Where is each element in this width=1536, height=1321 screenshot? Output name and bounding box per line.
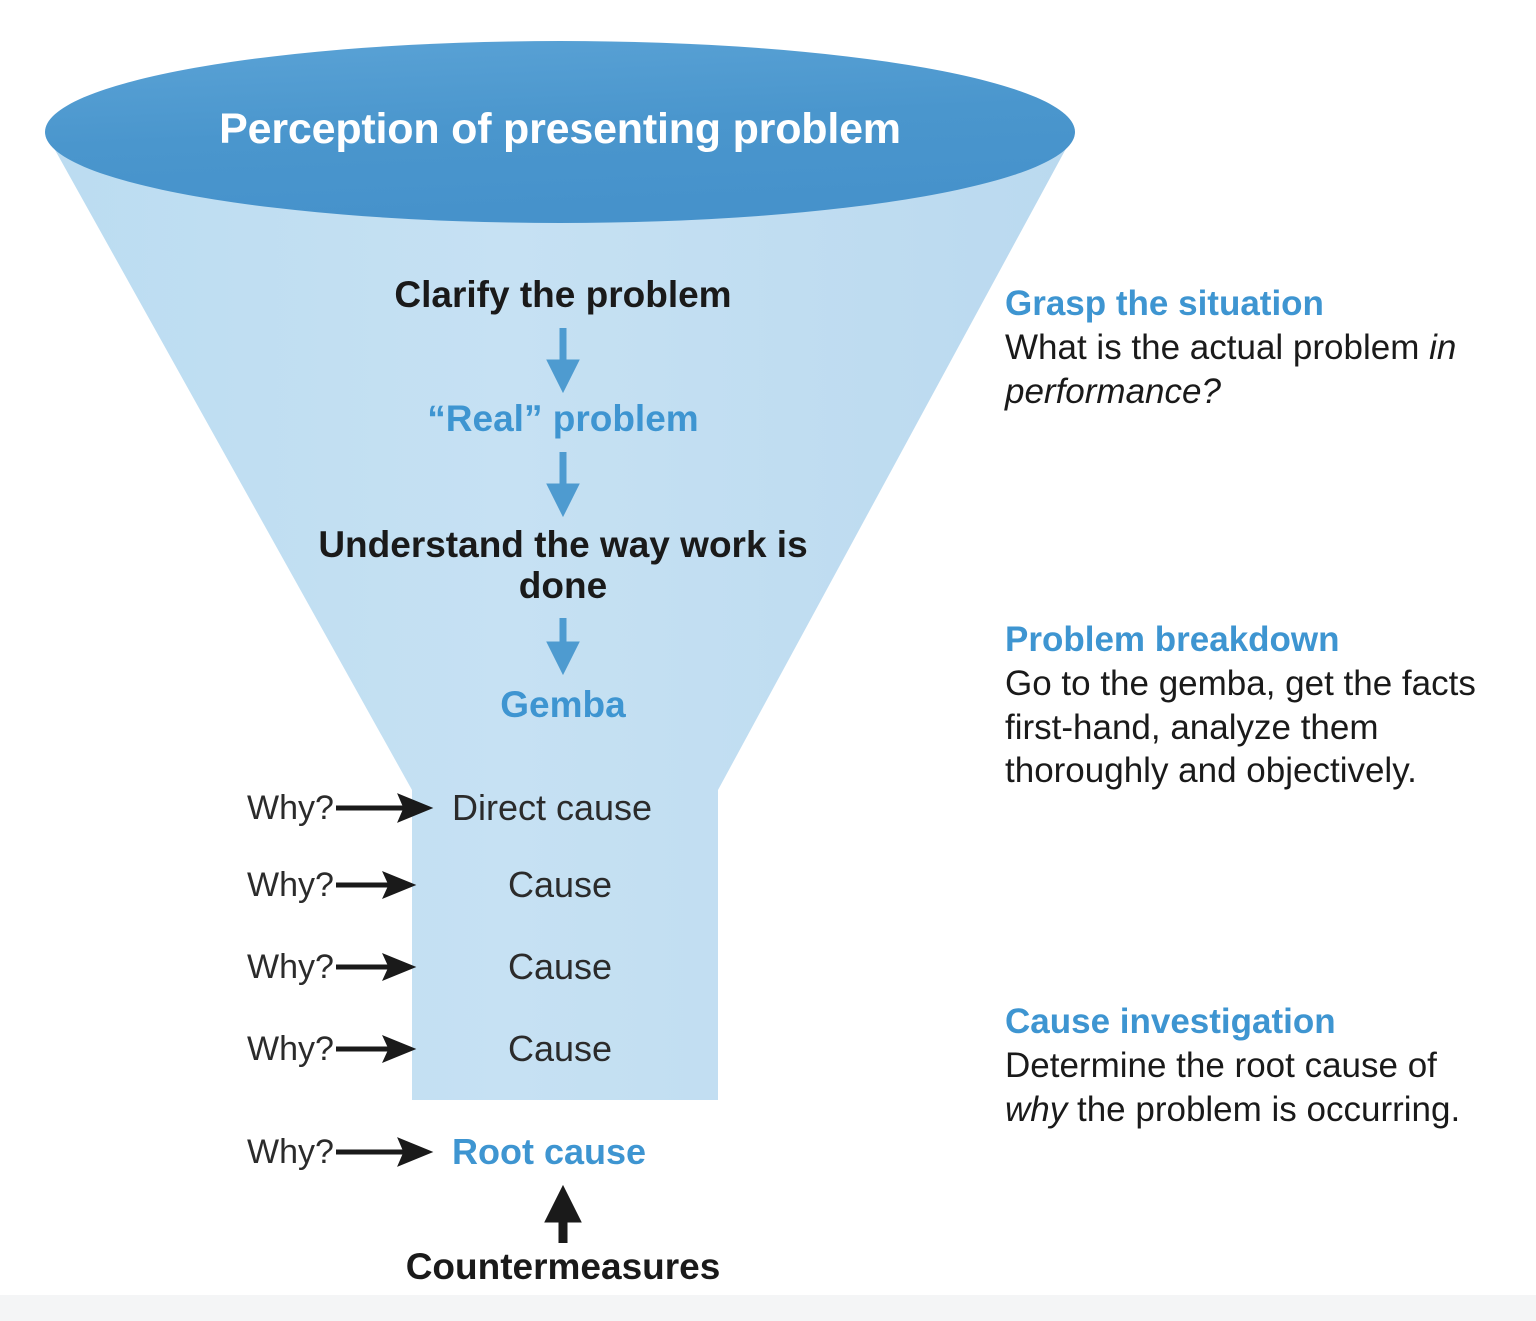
- why-arrow-5: [336, 1138, 432, 1166]
- why-label-5: Why?: [247, 1135, 334, 1169]
- cause-label-direct-cause: Direct cause: [452, 790, 842, 826]
- cause-label-3: Cause: [350, 949, 770, 985]
- countermeasures-up-arrow: [545, 1186, 581, 1243]
- why-label-3: Why?: [247, 950, 334, 984]
- side-block-cause-investigation: Cause investigation Determine the root c…: [1005, 1002, 1505, 1131]
- stage-label-real-problem: “Real” problem: [283, 400, 843, 437]
- stage-label-clarify-the-problem: Clarify the problem: [283, 276, 843, 313]
- side-body-plain-2: Go to the gemba, get the facts first-han…: [1005, 664, 1476, 790]
- side-body-plain-3: Determine the root cause of: [1005, 1046, 1437, 1085]
- side-body-grasp-the-situation: What is the actual problem in performanc…: [1005, 326, 1505, 413]
- page-title: Perception of presenting problem: [45, 108, 1075, 151]
- root-cause-funnel-diagram: Perception of presenting problem Clarify…: [0, 0, 1536, 1321]
- cause-label-2: Cause: [350, 867, 770, 903]
- bottom-edge-strip: [0, 1295, 1536, 1321]
- countermeasures-label: Countermeasures: [283, 1248, 843, 1285]
- why-label-1: Why?: [247, 791, 334, 825]
- why-label-2: Why?: [247, 868, 334, 902]
- side-body-cause-investigation: Determine the root cause of why the prob…: [1005, 1044, 1505, 1131]
- side-body-tail-3: the problem is occurring.: [1067, 1090, 1460, 1129]
- side-block-problem-breakdown: Problem breakdown Go to the gemba, get t…: [1005, 620, 1505, 792]
- side-body-problem-breakdown: Go to the gemba, get the facts first-han…: [1005, 662, 1505, 792]
- cause-label-4: Cause: [350, 1031, 770, 1067]
- stage-label-gemba: Gemba: [283, 686, 843, 723]
- side-body-plain-1: What is the actual problem: [1005, 328, 1429, 367]
- side-block-grasp-the-situation: Grasp the situation What is the actual p…: [1005, 284, 1505, 413]
- stage-label-understand-the-way-work-is-done: Understand the way work is done: [283, 524, 843, 607]
- why-label-4: Why?: [247, 1032, 334, 1066]
- side-title-problem-breakdown: Problem breakdown: [1005, 620, 1505, 659]
- side-title-grasp-the-situation: Grasp the situation: [1005, 284, 1505, 323]
- side-body-italic-3: why: [1005, 1090, 1067, 1129]
- cause-label-root-cause: Root cause: [452, 1134, 842, 1170]
- side-title-cause-investigation: Cause investigation: [1005, 1002, 1505, 1041]
